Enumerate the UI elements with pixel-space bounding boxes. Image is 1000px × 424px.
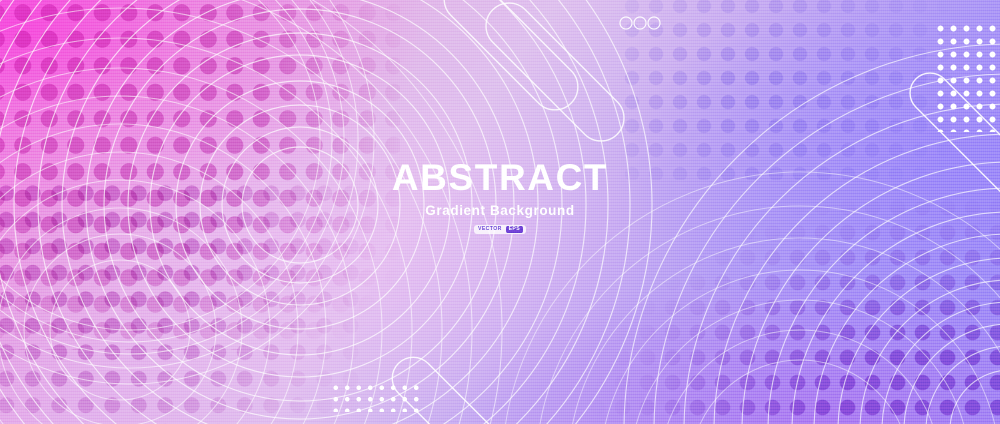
abstract-gradient-banner: ABSTRACT Gradient Background VECTOR EPS	[0, 0, 1000, 424]
grain-overlay	[0, 0, 1000, 424]
